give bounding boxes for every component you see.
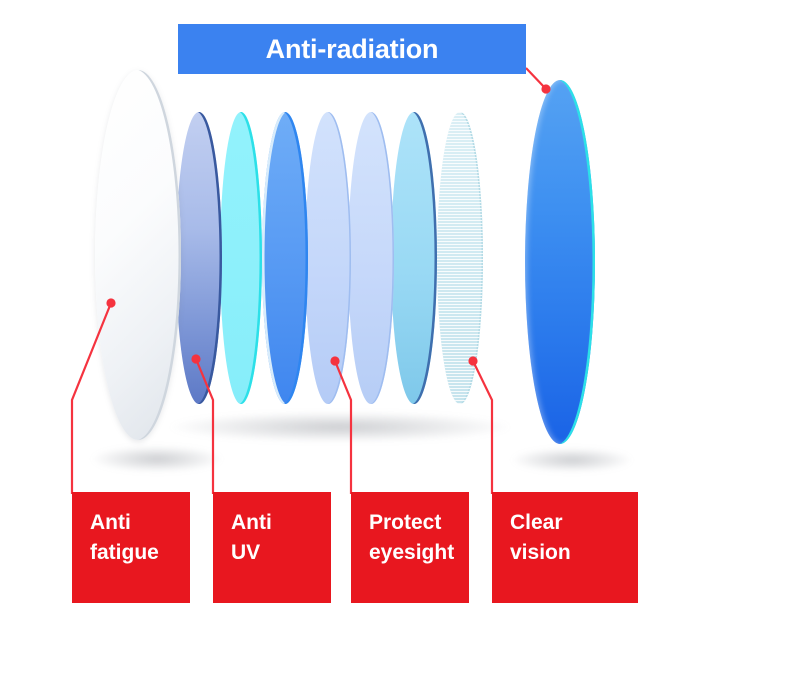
lens-coating-2-cyan xyxy=(220,112,262,404)
label-anti-uv-line2: UV xyxy=(231,538,317,568)
lens-coating-1-periwinkle xyxy=(176,112,222,404)
label-box-anti-fatigue[interactable]: Anti fatigue xyxy=(72,492,190,603)
anti-radiation-banner[interactable]: Anti-radiation xyxy=(178,24,526,74)
label-clear-vision-line1: Clear xyxy=(510,508,624,538)
label-clear-vision-line2: vision xyxy=(510,538,624,568)
lens-coating-6-sky xyxy=(391,112,437,404)
label-box-anti-uv[interactable]: Anti UV xyxy=(213,492,331,603)
label-box-protect-eyesight[interactable]: Protect eyesight xyxy=(351,492,469,603)
callout-line-anti-radiation xyxy=(526,68,546,89)
label-anti-fatigue-line2: fatigue xyxy=(90,538,176,568)
lens-coating-4-pale xyxy=(305,112,351,404)
diagram-canvas: Anti-radiation Anti fatigue Anti UV Prot… xyxy=(0,0,800,675)
front-lens-shadow xyxy=(92,446,222,472)
label-protect-eyesight-line1: Protect xyxy=(369,508,455,538)
lens-coating-3-royal xyxy=(262,112,308,404)
anti-radiation-banner-label: Anti-radiation xyxy=(266,34,439,65)
label-anti-fatigue-line1: Anti xyxy=(90,508,176,538)
lens-coating-5-pale xyxy=(348,112,394,404)
label-box-clear-vision[interactable]: Clear vision xyxy=(492,492,638,603)
stack-shadow xyxy=(170,412,510,442)
label-protect-eyesight-line2: eyesight xyxy=(369,538,455,568)
back-lens-shadow xyxy=(512,448,632,472)
lens-back-blue xyxy=(525,80,595,444)
lens-coating-7-striped xyxy=(437,112,483,404)
lens-front-frosted xyxy=(95,70,181,440)
label-anti-uv-line1: Anti xyxy=(231,508,317,538)
